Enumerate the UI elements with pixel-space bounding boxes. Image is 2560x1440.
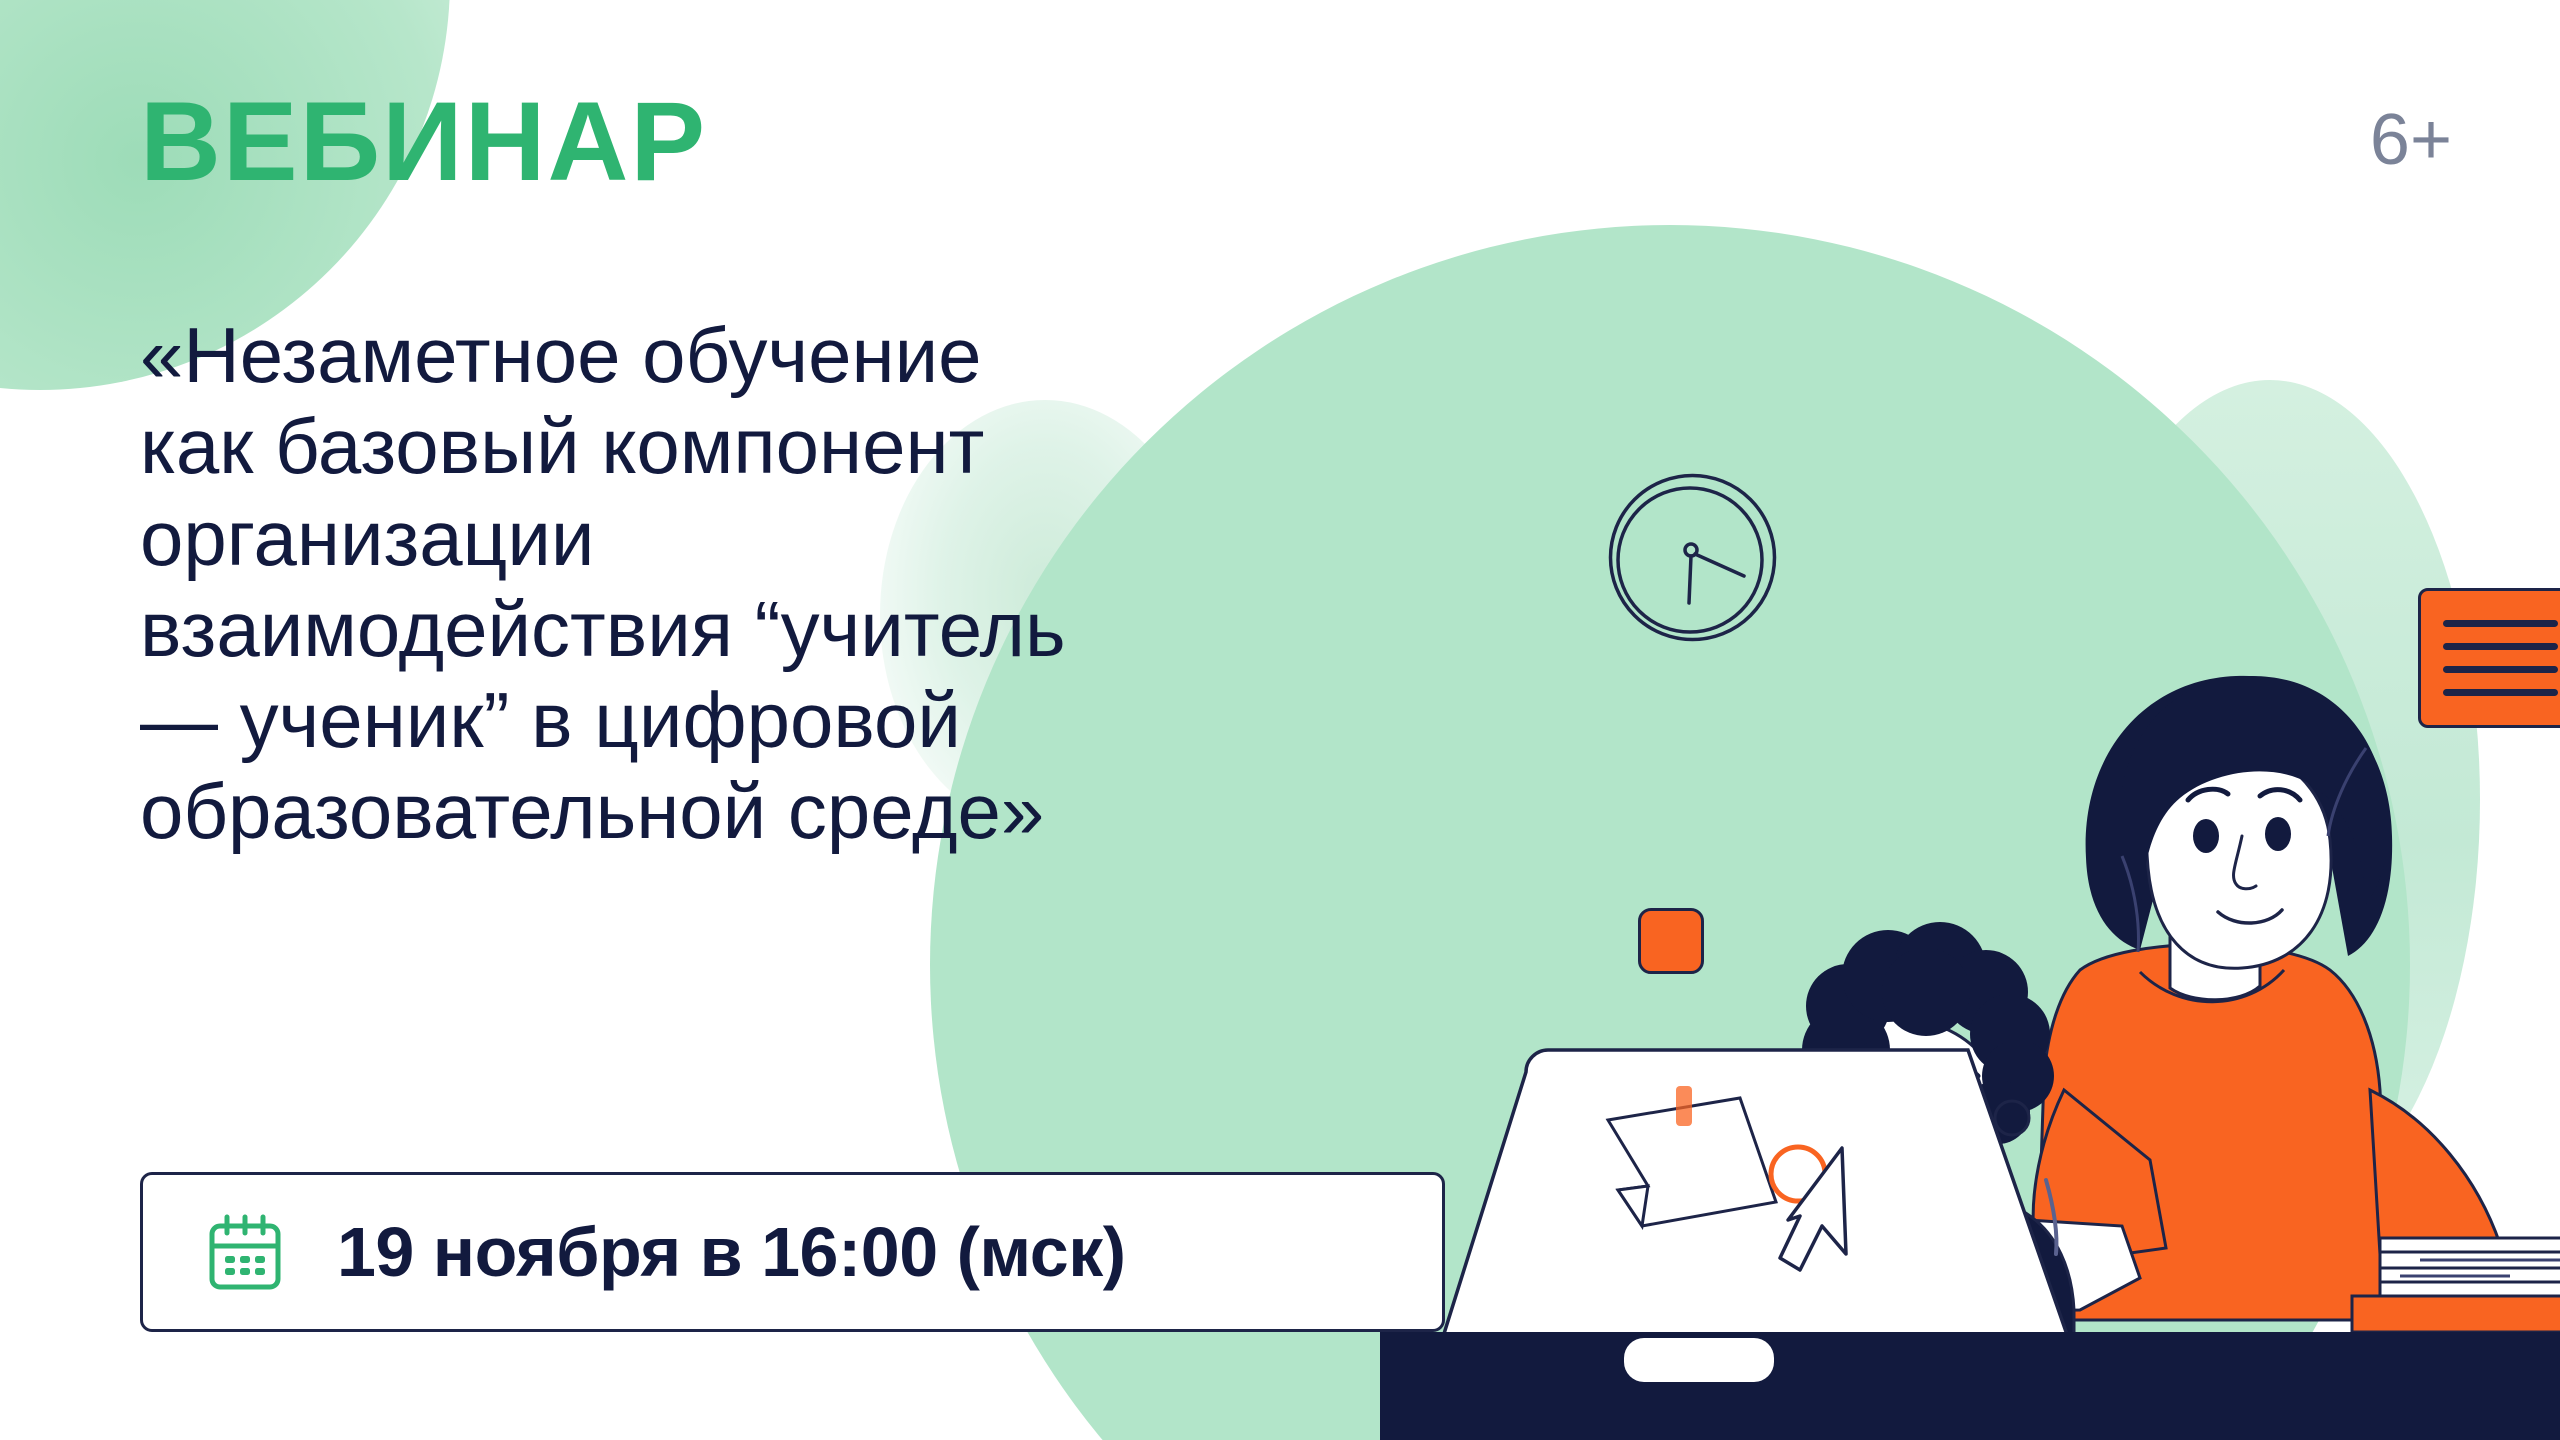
date-badge-label: 19 ноября в 16:00 (мск) (337, 1212, 1126, 1292)
page-title: «Незаметное обучение как базовый компоне… (140, 310, 1370, 858)
illustration-woman-and-boy-at-laptop (1380, 620, 2560, 1440)
calendar-icon (207, 1213, 283, 1291)
laptop-base-notch (1624, 1338, 1774, 1382)
age-rating-badge: 6+ (2370, 104, 2452, 176)
sticky-note-pin (1676, 1086, 1692, 1126)
date-badge[interactable]: 19 ноября в 16:00 (мск) (140, 1172, 1445, 1332)
banner-canvas: ВЕБИНАР «Незаметное обучение как базовый… (0, 0, 2560, 1440)
book (2380, 1282, 2560, 1296)
book (2380, 1238, 2560, 1252)
woman-eye-left (2193, 819, 2219, 853)
desk (1380, 1332, 2560, 1440)
orange-book (2352, 1296, 2560, 1332)
kicker-webinar: ВЕБИНАР (140, 86, 707, 198)
laptop-screen (1432, 1050, 2080, 1372)
woman-eye-right (2265, 817, 2291, 851)
clock-icon (1605, 470, 1780, 645)
